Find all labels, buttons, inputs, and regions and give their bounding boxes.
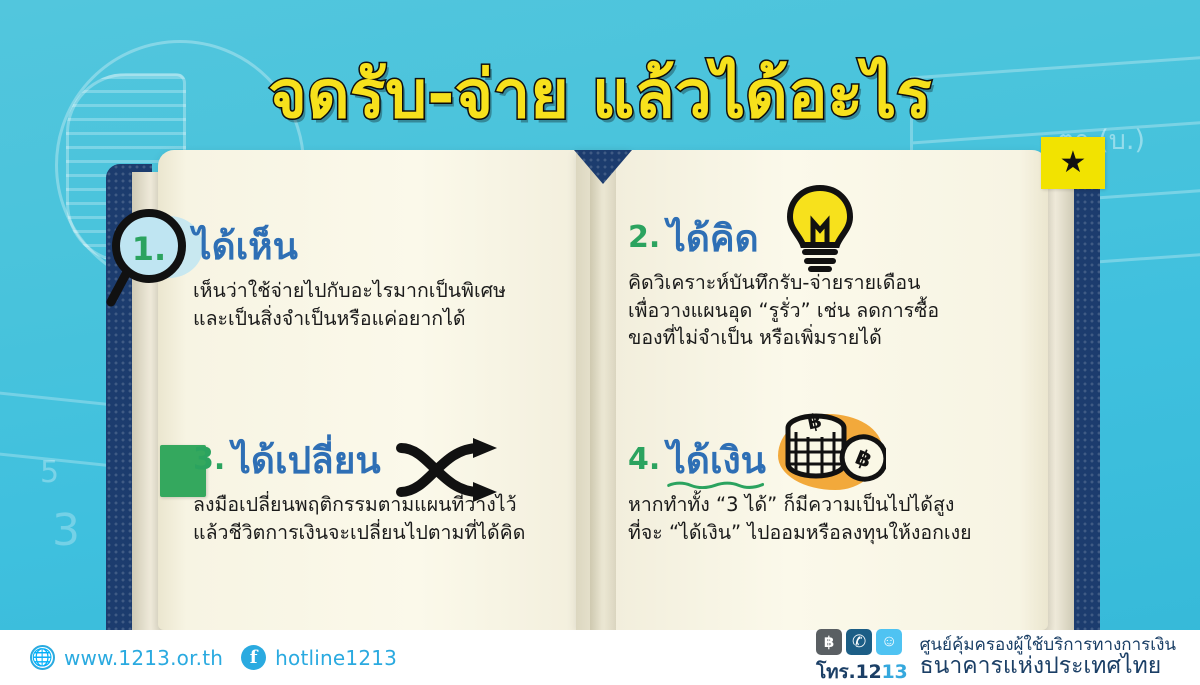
baht-square-icon: ฿ [816, 629, 842, 655]
item-heading: ได้คิด [667, 220, 758, 257]
brand-line-1: ศูนย์คุ้มครองผู้ใช้บริการทางการเงิน [920, 637, 1176, 655]
body-line: และเป็นสิ่งจำเป็นหรือแค่อยากได้ [193, 305, 593, 333]
brand-logo-mark: ฿ ✆ ☺ โทร.1213 [816, 629, 907, 685]
heading-underline-squiggle [667, 480, 766, 489]
smiley-square-icon: ☺ [876, 629, 902, 655]
open-book-graphic: ★ 1. ได้เห็น เห็นว่าใช้จ่ายไปกับอะไรมากเ [98, 150, 1108, 630]
page-title: จดรับ-จ่าย แล้วได้อะไร [0, 62, 1200, 128]
body-line: แล้วชีวิตการเงินจะเปลี่ยนไปตามที่ได้คิด [193, 519, 593, 547]
item-number: 4. [628, 445, 660, 479]
footer-bar: 🌐 www.1213.or.th f hotline1213 ฿ ✆ ☺ โทร… [0, 630, 1200, 685]
item-body: คิดวิเคราะห์บันทึกรับ-จ่ายรายเดือน เพื่อ… [628, 269, 1028, 352]
item-heading: ได้เงิน [667, 442, 766, 479]
scribble-decoration-b: 3 [52, 505, 80, 556]
item-number: 2. [628, 223, 660, 257]
hotline-digits-light: 13 [882, 661, 908, 683]
body-line: ที่จะ “ได้เงิน” ไปออมหรือลงทุนให้งอกเงย [628, 519, 1028, 547]
item-heading: ได้เห็น [193, 228, 298, 265]
body-line: หากทำทั้ง “3 ได้” ก็มีความเป็นไปได้สูง [628, 491, 1028, 519]
list-item: 2. ได้คิด คิดวิเคราะห์บันทึกรับ-จ่ายรายเ… [628, 220, 1028, 352]
item-number: 3. [193, 445, 225, 479]
hotline-digits-dark: 12 [855, 661, 881, 683]
item-body: หากทำทั้ง “3 ได้” ก็มีความเป็นไปได้สูง ท… [628, 491, 1028, 546]
item-body: เห็นว่าใช้จ่ายไปกับอะไรมากเป็นพิเศษ และเ… [193, 277, 593, 332]
hotline-prefix: โทร. [816, 661, 855, 683]
globe-icon: 🌐 [30, 645, 55, 670]
item-body: ลงมือเปลี่ยนพฤติกรรมตามแผนที่วางไว้ แล้ว… [193, 491, 593, 546]
brand-name: ศูนย์คุ้มครองผู้ใช้บริการทางการเงิน ธนาค… [920, 637, 1176, 679]
brand-line-2: ธนาคารแห่งประเทศไทย [920, 654, 1176, 678]
body-line: เห็นว่าใช้จ่ายไปกับอะไรมากเป็นพิเศษ [193, 277, 593, 305]
body-line: เพื่อวางแผนอุด “รูรั่ว” เช่น ลดการซื้อ [628, 297, 1028, 325]
facebook-label: hotline1213 [275, 646, 397, 670]
list-item: 3. ได้เปลี่ยน ลงมือเปลี่ยนพฤติกรรมตามแผน… [193, 442, 593, 546]
facebook-link[interactable]: f hotline1213 [241, 645, 397, 670]
phone-square-icon: ✆ [846, 629, 872, 655]
website-label: www.1213.or.th [64, 646, 223, 670]
svg-text:1.: 1. [132, 230, 166, 268]
footer-brand: ฿ ✆ ☺ โทร.1213 ศูนย์คุ้มครองผู้ใช้บริการ… [816, 629, 1176, 685]
body-line: ลงมือเปลี่ยนพฤติกรรมตามแผนที่วางไว้ [193, 491, 593, 519]
hotline-number: โทร.1213 [816, 657, 907, 685]
body-line: ของที่ไม่จำเป็น หรือเพิ่มรายได้ [628, 324, 1028, 352]
footer-contact-group: 🌐 www.1213.or.th f hotline1213 [30, 645, 397, 670]
list-item: 1. ได้เห็น เห็นว่าใช้จ่ายไปกับอะไรมากเป็… [193, 228, 593, 332]
list-item: ฿ ฿ 4. ได้เงิน หากทำทั้ง “3 ได้” ก็มีควา [628, 442, 1028, 546]
website-link[interactable]: 🌐 www.1213.or.th [30, 645, 223, 670]
item-heading: ได้เปลี่ยน [232, 442, 380, 479]
infographic-canvas: +2,500 ตา (บ.) 5 3 จดรับ-จ่าย แล้วได้อะไ… [0, 0, 1200, 685]
facebook-icon: f [241, 645, 266, 670]
scribble-decoration-a: 5 [40, 455, 59, 490]
